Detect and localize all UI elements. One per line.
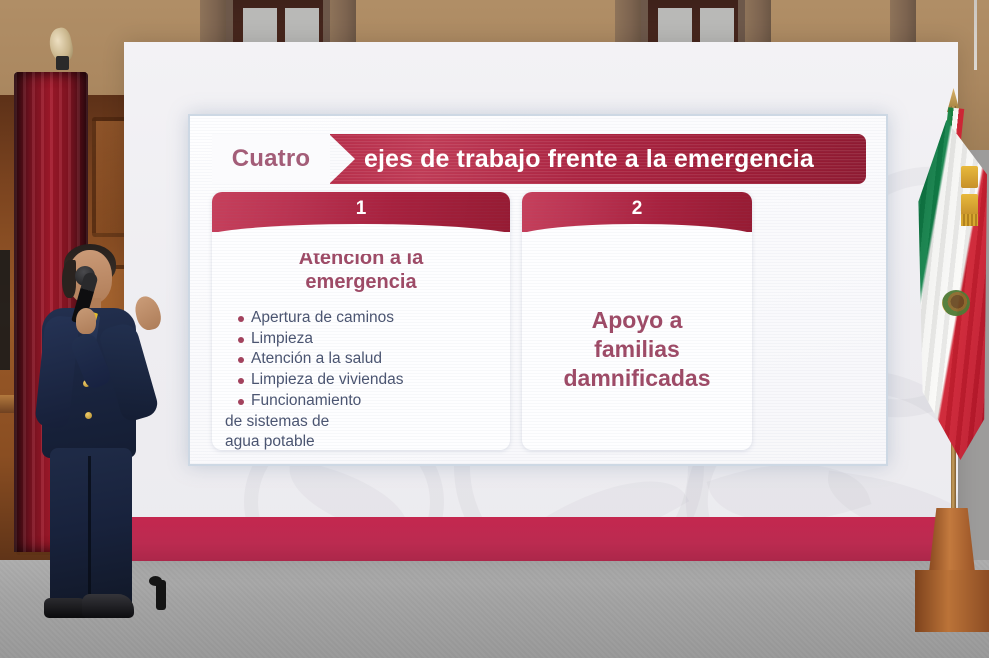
card-2-number: 2: [632, 198, 643, 220]
mexican-flag: [905, 78, 989, 578]
speaker: [26, 250, 176, 630]
flag-stand-base: [915, 570, 989, 632]
card-1-header: 1: [212, 192, 510, 232]
banner-headline: ejes de trabajo frente a la emergencia: [330, 134, 866, 184]
card-1-continuation-line-2: agua potable: [212, 432, 510, 450]
card-2-title-line-2: familias: [530, 335, 744, 364]
flag-tassel: [961, 194, 978, 216]
banner-lead-word: Cuatro: [212, 134, 330, 184]
cards-row: 1 Atención a la emergencia Apertura de c…: [212, 192, 752, 450]
card-2-title-line-1: Apoyo a: [530, 306, 744, 335]
jacket-button: [85, 412, 92, 419]
flag-stand-upper: [929, 508, 975, 572]
card-2-header: 2: [522, 192, 752, 232]
card-1: 1 Atención a la emergencia Apertura de c…: [212, 192, 510, 450]
slide-title-banner: Cuatro ejes de trabajo frente a la emerg…: [212, 134, 866, 184]
card-1-bullet-list: Apertura de caminos Limpieza Atención a …: [212, 308, 510, 412]
flag-tassel: [961, 166, 978, 188]
lamp-base: [56, 56, 69, 70]
banner-lead-word-text: Cuatro: [232, 145, 311, 173]
flag-coat-of-arms-icon: [942, 290, 970, 316]
floor-microphone-stand: [156, 580, 166, 610]
speaker-trousers: [50, 448, 132, 606]
list-item: Apertura de caminos: [238, 308, 510, 329]
banner-headline-text: ejes de trabajo frente a la emergencia: [364, 145, 814, 174]
speaker-hair-side: [62, 260, 76, 298]
speaker-hand-holding-mic: [76, 308, 96, 334]
equipment-stand: [0, 250, 10, 370]
speaker-gesturing-hand: [133, 294, 164, 332]
presentation-slide: Cuatro ejes de trabajo frente a la emerg…: [188, 114, 888, 466]
card-2-title-line-3: damnificadas: [530, 364, 744, 393]
list-item: Atención a la salud: [238, 349, 510, 370]
speaker-shoe: [82, 594, 134, 618]
list-item: Limpieza de viviendas: [238, 370, 510, 391]
hanging-cable: [974, 0, 977, 70]
card-1-title-line-2: emergencia: [226, 270, 496, 294]
card-1-number: 1: [356, 198, 367, 220]
card-2: 2 Apoyo a familias damnificadas: [522, 192, 752, 450]
window: [641, 0, 745, 46]
press-conference-scene: Cuatro ejes de trabajo frente a la emerg…: [0, 0, 989, 658]
flag-tassel-fringe: [961, 214, 978, 226]
card-2-title: Apoyo a familias damnificadas: [522, 306, 752, 393]
window: [226, 0, 330, 46]
stage-backdrop: Cuatro ejes de trabajo frente a la emerg…: [124, 42, 958, 561]
list-item: Limpieza: [238, 329, 510, 350]
list-item: Funcionamiento: [238, 391, 510, 412]
card-1-continuation-line-1: de sistemas de: [212, 412, 510, 433]
speaker-leg-seam: [88, 456, 91, 604]
backdrop-bottom-bar: [124, 517, 958, 561]
